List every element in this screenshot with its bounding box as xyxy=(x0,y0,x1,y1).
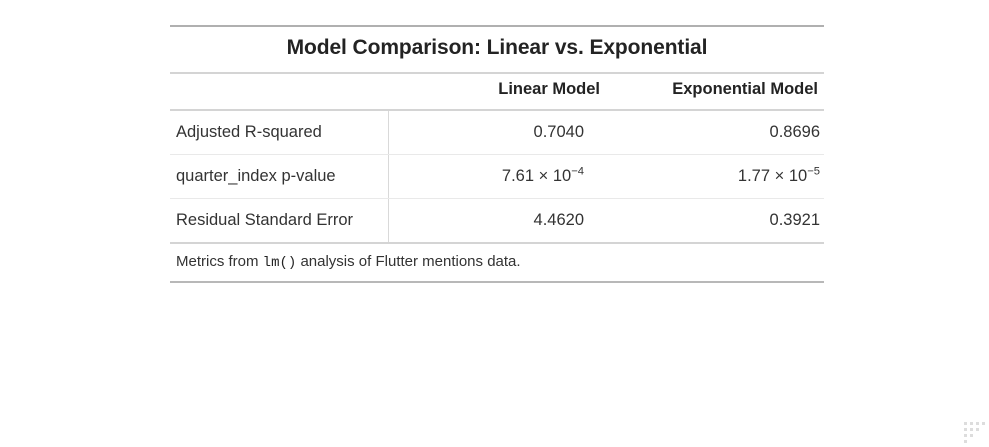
footnote-row: Metrics from lm() analysis of Flutter me… xyxy=(170,243,824,282)
cell-exponential-adjusted-r-squared: 0.8696 xyxy=(606,110,824,155)
cell-value-exponent: −5 xyxy=(807,166,820,178)
column-header-linear-model: Linear Model xyxy=(388,73,606,110)
model-comparison-table-container: Model Comparison: Linear vs. Exponential… xyxy=(170,25,824,283)
table-title-cell: Model Comparison: Linear vs. Exponential xyxy=(170,26,824,73)
footnote-prefix: Metrics from xyxy=(176,253,263,270)
row-label-adjusted-r-squared: Adjusted R-squared xyxy=(170,110,388,155)
model-comparison-table: Model Comparison: Linear vs. Exponential… xyxy=(170,25,824,283)
cell-exponential-residual-standard-error: 0.3921 xyxy=(606,199,824,244)
resize-grip-icon[interactable] xyxy=(961,419,987,445)
column-header-row: Linear Model Exponential Model xyxy=(170,73,824,110)
table-row: Residual Standard Error 4.4620 0.3921 xyxy=(170,199,824,244)
cell-value-exponent: −4 xyxy=(571,166,584,178)
page-title: Model Comparison: Linear vs. Exponential xyxy=(287,36,708,59)
cell-value-mantissa: 4.4620 xyxy=(534,211,584,229)
row-label-quarter-index-p-value: quarter_index p-value xyxy=(170,155,388,199)
table-footnote: Metrics from lm() analysis of Flutter me… xyxy=(170,243,824,282)
table-title-row: Model Comparison: Linear vs. Exponential xyxy=(170,26,824,73)
cell-exponential-quarter-index-p-value: 1.77 × 10−5 xyxy=(606,155,824,199)
table-row: quarter_index p-value 7.61 × 10−4 1.77 ×… xyxy=(170,155,824,199)
table-foot: Metrics from lm() analysis of Flutter me… xyxy=(170,243,824,282)
table-body: Adjusted R-squared 0.7040 0.8696 quarter… xyxy=(170,110,824,243)
column-header-exponential-model: Exponential Model xyxy=(606,73,824,110)
row-label-residual-standard-error: Residual Standard Error xyxy=(170,199,388,244)
cell-value-mantissa: 0.3921 xyxy=(770,211,820,229)
cell-linear-adjusted-r-squared: 0.7040 xyxy=(388,110,606,155)
footnote-suffix: analysis of Flutter mentions data. xyxy=(296,253,520,270)
cell-value-mantissa: 1.77 × 10 xyxy=(738,167,807,185)
cell-value-mantissa: 0.8696 xyxy=(770,123,820,141)
cell-value-mantissa: 7.61 × 10 xyxy=(502,167,571,185)
table-row: Adjusted R-squared 0.7040 0.8696 xyxy=(170,110,824,155)
cell-linear-residual-standard-error: 4.4620 xyxy=(388,199,606,244)
footnote-code: lm() xyxy=(263,255,297,271)
cell-value-mantissa: 0.7040 xyxy=(534,123,584,141)
column-header-metric xyxy=(170,73,388,110)
table-head: Model Comparison: Linear vs. Exponential… xyxy=(170,26,824,110)
cell-linear-quarter-index-p-value: 7.61 × 10−4 xyxy=(388,155,606,199)
